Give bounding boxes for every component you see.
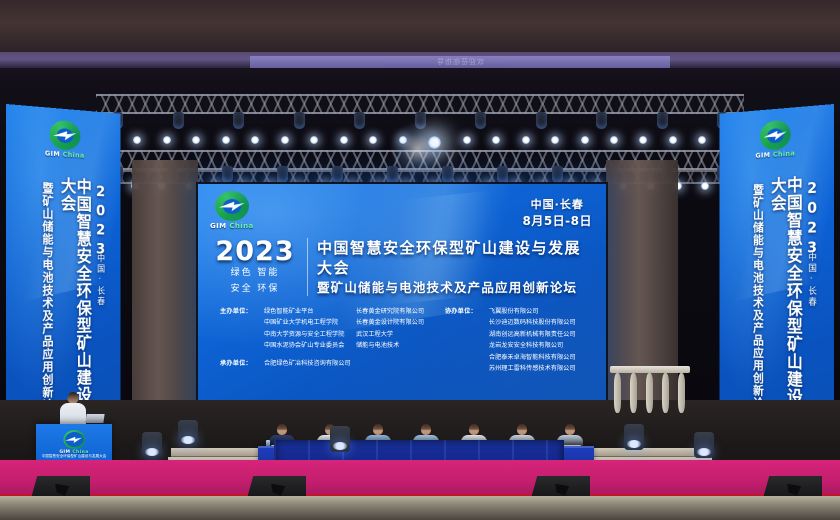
event-location: 中国·长春: [522, 198, 592, 213]
host-label: 主办单位：: [220, 306, 264, 352]
par-lamp: [522, 136, 530, 144]
gim-text: GIM: [45, 150, 60, 159]
gim-logo-text: GIM China: [210, 222, 254, 230]
banner-left-year: 2023: [93, 182, 106, 259]
banner-right-city: 中国·长春: [806, 252, 815, 308]
moving-head-fixture: [475, 112, 486, 129]
par-lamp: [369, 136, 377, 144]
moving-head-fixture: [387, 166, 398, 183]
floor-moving-light: [142, 432, 162, 458]
gim-text: GIM: [210, 222, 227, 230]
undertaker-item: 合肥绿色矿冶科技咨询有限公司: [264, 358, 351, 369]
baluster: [646, 373, 653, 413]
par-lamp: [698, 136, 706, 144]
overhead-led-strip: 欢迎莅临指导: [250, 56, 670, 68]
floor-moving-light: [694, 432, 714, 458]
par-lamp: [133, 136, 141, 144]
gim-dart-icon: [65, 435, 83, 443]
coorganizer-item: 苏州理工雷科传感技术有限公司: [489, 363, 576, 374]
stair-balustrade: [610, 366, 690, 426]
organizer-left-group: 主办单位： 绿色智能矿业平台 中国矿业大学机电工程学院 中南大学资源与安全工程学…: [220, 306, 445, 375]
podium-laptop: [85, 414, 104, 423]
title-column: 中国智慧安全环保型矿山建设与发展大会 暨矿山储能与电池技术及产品应用创新论坛: [317, 238, 594, 296]
baluster: [630, 373, 637, 413]
banner-left-city: 中国·长春: [95, 253, 103, 307]
host-column-1: 绿色智能矿业平台 中国矿业大学机电工程学院 中南大学资源与安全工程学院 中国水泥…: [264, 306, 356, 352]
panelist-head: [469, 424, 479, 435]
event-dates: 8月5日-8日: [522, 213, 592, 229]
host-row: 主办单位： 绿色智能矿业平台 中国矿业大学机电工程学院 中南大学资源与安全工程学…: [220, 306, 445, 352]
coorganizer-list: 飞翼股份有限公司 长沙迪迈数码科技股份有限公司 湖南创远高新机械有限责任公司 龙…: [489, 306, 576, 375]
gim-ring-icon: [215, 191, 249, 221]
moving-head-fixture: [277, 166, 288, 183]
gim-dart-icon: [218, 200, 245, 213]
host-item: 绿色智能矿业平台: [264, 306, 356, 317]
overhead-led-text: 欢迎莅临指导: [250, 56, 670, 68]
par-lamp: [701, 182, 709, 190]
event-year: 2023: [212, 238, 298, 265]
gim-logo-podium: GIM China: [59, 430, 88, 455]
par-lamp: [639, 136, 647, 144]
slogan-line-1: 绿色 智能: [212, 267, 298, 281]
coorganizer-item: 湖南创远高新机械有限责任公司: [489, 329, 576, 340]
moving-head-row-upper: [112, 112, 728, 129]
moving-head-fixture: [657, 112, 668, 129]
gim-ring-icon: [63, 430, 85, 449]
host-column-2: 长春黄金研究院有限公司 长春黄金设计院有限公司 武汉工程大学 储能与电池技术: [356, 306, 445, 352]
conference-title: 中国智慧安全环保型矿山建设与发展大会: [317, 238, 594, 279]
moving-head-fixture: [233, 112, 244, 129]
gim-logo-left: GIM China: [45, 119, 85, 160]
par-lamp-row-upper: [104, 136, 736, 149]
moving-head-fixture: [497, 166, 508, 183]
baluster: [662, 373, 669, 413]
front-ledge: [0, 496, 840, 520]
panelist-head: [373, 424, 383, 435]
slogan-line-2: 安全 环保: [212, 283, 298, 297]
baluster: [678, 373, 685, 413]
moving-head-fixture: [173, 112, 184, 129]
host-item: 中国矿业大学机电工程学院: [264, 317, 356, 328]
coorganizer-item: 合肥泰禾卓海智能科技有限公司: [489, 352, 576, 363]
par-lamp: [551, 136, 559, 144]
floor-moving-light: [330, 426, 350, 452]
gim-dart-icon: [53, 130, 78, 141]
par-lamp: [281, 136, 289, 144]
china-text: China: [773, 150, 795, 159]
host-item: 中南大学资源与安全工程学院: [264, 329, 356, 340]
podium-title-line-1: 中国智慧安全环保型矿山建设与发展大会: [40, 454, 108, 460]
moving-head-fixture: [442, 166, 453, 183]
panelist-head: [277, 424, 287, 435]
undertaker-row: 承办单位： 合肥绿色矿冶科技咨询有限公司: [220, 358, 445, 369]
gim-ring-icon: [760, 119, 791, 150]
conference-subtitle: 暨矿山储能与电池技术及产品应用创新论坛: [317, 279, 594, 297]
title-divider: [307, 238, 308, 296]
organizer-right-group: 协办单位： 飞翼股份有限公司 长沙迪迈数码科技股份有限公司 湖南创远高新机械有限…: [445, 306, 590, 375]
main-led-screen: GIM China 中国·长春 8月5日-8日 2023 绿色 智能 安全 环保…: [198, 184, 606, 412]
moving-head-fixture: [354, 112, 365, 129]
par-lamp: [163, 136, 171, 144]
gim-ring-icon: [49, 119, 80, 150]
panelist-head: [517, 424, 527, 435]
host-item: 长春黄金设计院有限公司: [356, 317, 445, 328]
baluster: [614, 373, 621, 413]
stair-tread: [583, 448, 712, 457]
moving-head-fixture: [332, 166, 343, 183]
par-lamp: [192, 136, 200, 144]
china-text: China: [63, 151, 85, 160]
event-date-location: 中国·长春 8月5日-8日: [522, 198, 592, 229]
stage-scene: 欢迎莅临指导 GIM China 2023 中国·长春 中国智慧安全环保型矿山建…: [0, 0, 840, 520]
moving-head-fixture: [222, 166, 233, 183]
moving-head-fixture: [596, 112, 607, 129]
coorganizer-label: 协办单位：: [445, 306, 489, 375]
moving-head-fixture: [552, 166, 563, 183]
stage-carpet: [0, 460, 840, 496]
ceiling-beam: [0, 0, 840, 58]
panelist-head: [565, 424, 575, 435]
banner-right-year: 2023: [804, 179, 818, 259]
undertaker-label: 承办单位：: [220, 358, 264, 369]
screen-title-block: 2023 绿色 智能 安全 环保 中国智慧安全环保型矿山建设与发展大会 暨矿山储…: [212, 238, 594, 296]
coorganizer-row: 协办单位： 飞翼股份有限公司 长沙迪迈数码科技股份有限公司 湖南创远高新机械有限…: [445, 306, 590, 375]
balustrade-rail: [610, 366, 690, 373]
panelist-head: [421, 424, 431, 435]
china-text: China: [229, 222, 253, 230]
par-lamp: [463, 136, 471, 144]
host-item: 长春黄金研究院有限公司: [356, 306, 445, 317]
moving-head-fixture: [294, 112, 305, 129]
organizer-block: 主办单位： 绿色智能矿业平台 中国矿业大学机电工程学院 中南大学资源与安全工程学…: [220, 306, 590, 375]
par-lamp: [581, 136, 589, 144]
gim-dart-icon: [763, 128, 788, 142]
coorganizer-item: 龙岩龙安安全科技有限公司: [489, 340, 576, 351]
host-item: 中国水泥协会矿山专业委员会: [264, 340, 356, 351]
par-lamp: [399, 136, 407, 144]
par-lamp: [310, 136, 318, 144]
gim-logo-right: GIM China: [755, 119, 795, 160]
par-lamp: [222, 136, 230, 144]
main-led-screen-frame: GIM China 中国·长春 8月5日-8日 2023 绿色 智能 安全 环保…: [196, 182, 608, 420]
par-lamp: [340, 136, 348, 144]
truss-upper: [96, 94, 744, 114]
moving-head-fixture: [415, 112, 426, 129]
host-item: 武汉工程大学: [356, 329, 445, 340]
stage-wall-left: [132, 160, 198, 410]
par-lamp: [669, 136, 677, 144]
par-lamp: [428, 136, 441, 149]
gim-text: GIM: [755, 151, 770, 160]
gim-logo-screen: GIM China: [210, 191, 254, 230]
coorganizer-item: 长沙迪迈数码科技股份有限公司: [489, 317, 576, 328]
host-item: 储能与电池技术: [356, 340, 445, 351]
coorganizer-item: 飞翼股份有限公司: [489, 306, 576, 317]
floor-moving-light: [624, 424, 644, 450]
floor-moving-light: [178, 420, 198, 446]
par-lamp: [610, 136, 618, 144]
par-lamp: [251, 136, 259, 144]
par-lamp: [492, 136, 500, 144]
year-column: 2023 绿色 智能 安全 环保: [212, 238, 298, 296]
moving-head-fixture: [536, 112, 547, 129]
